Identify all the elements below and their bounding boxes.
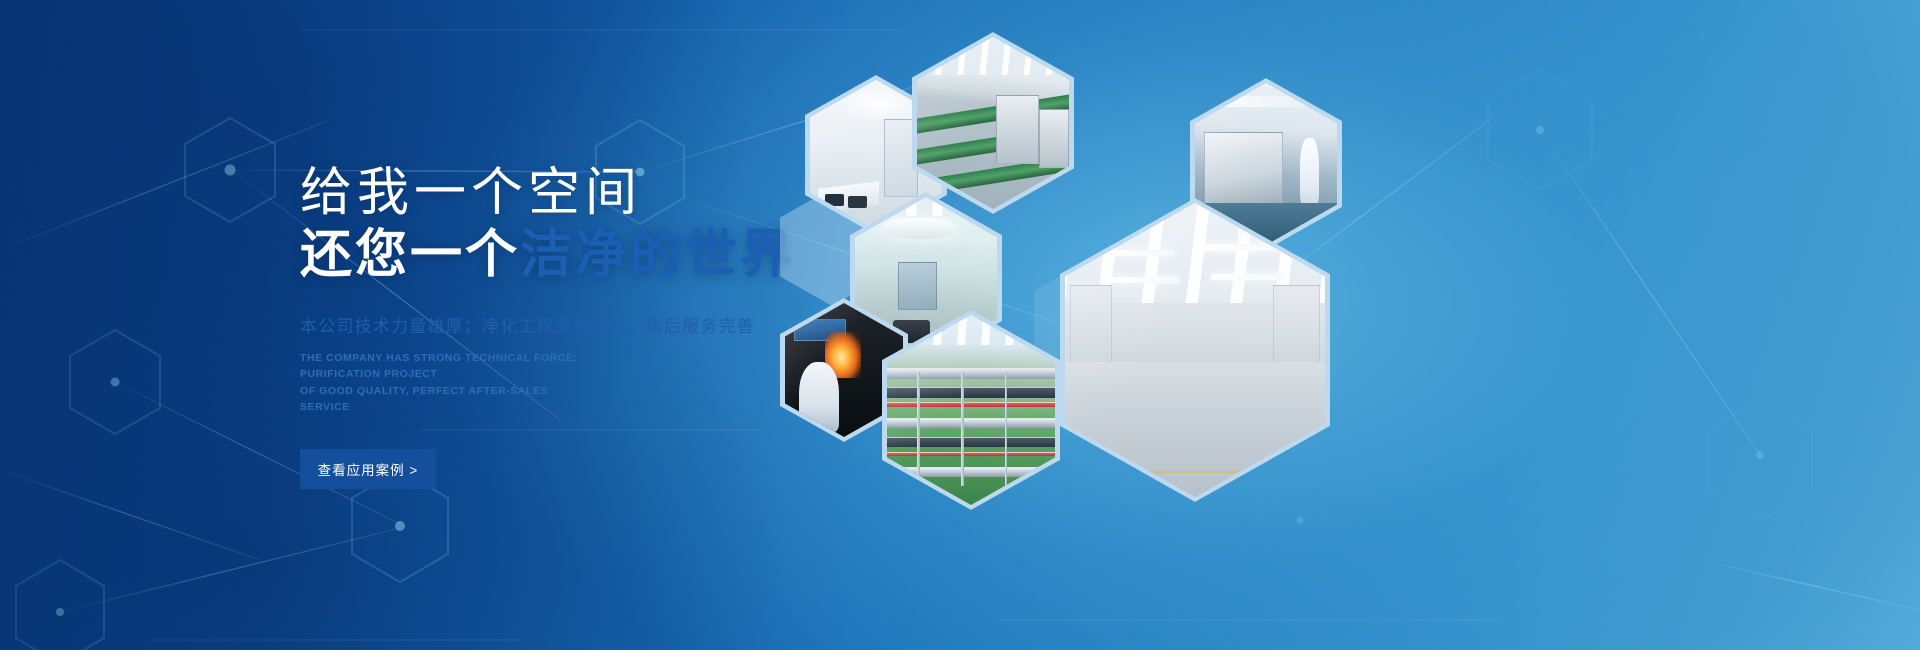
hexagon-image-cluster xyxy=(760,0,1920,650)
subtitle-english-line-2: OF GOOD QUALITY, PERFECT AFTER-SALES SER… xyxy=(300,383,600,416)
hex-large-cleanroom-hall[interactable] xyxy=(1060,198,1330,502)
headline-line-2-white: 还您一个 xyxy=(300,226,520,284)
hero-banner: 给我一个空间 还您一个洁净的世界 本公司技术力量雄厚；净化工程质量优良，售后服务… xyxy=(0,0,1920,650)
subtitle-english-line-1: THE COMPANY HAS STRONG TECHNICAL FORCE; … xyxy=(300,350,600,383)
headline-line-2-blue: 洁净的世界 xyxy=(520,226,795,284)
view-application-cases-button[interactable]: 查看应用案例 > xyxy=(300,449,436,489)
photo-cleanroom-hall xyxy=(1065,203,1325,497)
subtitle-english: THE COMPANY HAS STRONG TECHNICAL FORCE; … xyxy=(300,350,600,415)
